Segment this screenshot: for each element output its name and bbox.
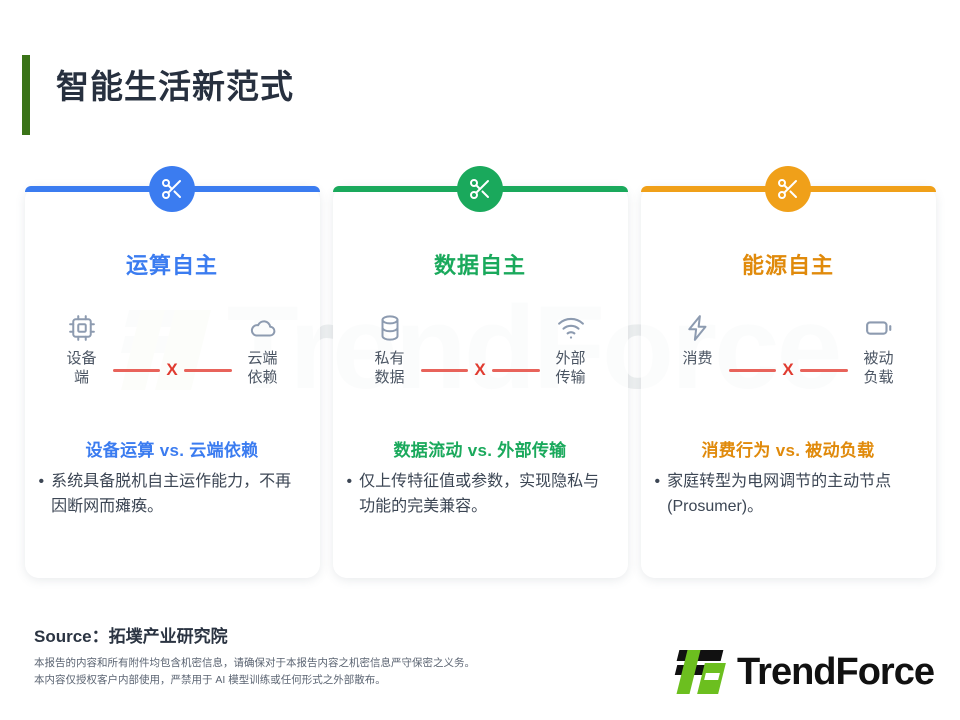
break-diagram: 消费 X 被动 负载: [641, 304, 936, 416]
battery-icon: [838, 304, 920, 344]
break-marker: X: [166, 360, 177, 380]
node-right: 外部 传输: [530, 304, 612, 388]
scissors-icon: [149, 166, 195, 212]
card-data-autonomy[interactable]: 数据自主 私有 数据 X: [333, 186, 628, 578]
card-compute-autonomy[interactable]: 运算自主 设备 端 X: [25, 186, 320, 578]
wifi-icon: [530, 304, 612, 344]
node-right: 被动 负载: [838, 304, 920, 388]
database-icon: [349, 304, 431, 344]
node-left: 私有 数据: [349, 304, 431, 388]
scissors-icon: [765, 166, 811, 212]
source-block: Source：拓墣产业研究院 本报告的内容和所有附件均包含机密信息，请确保对于本…: [34, 622, 475, 690]
disclaimer-line-1: 本报告的内容和所有附件均包含机密信息，请确保对于本报告内容之机密信息严守保密之义…: [34, 655, 475, 672]
node-left: 消费: [657, 304, 739, 369]
card-foot-title: 消费行为 vs. 被动负载: [655, 436, 922, 461]
node-right-label: 被动 负载: [838, 350, 920, 388]
node-right-label: 外部 传输: [530, 350, 612, 388]
node-right: 云端 依赖: [222, 304, 304, 388]
cloud-icon: [222, 304, 304, 344]
card-title: 运算自主: [25, 248, 320, 280]
node-left-label: 设备 端: [41, 350, 123, 388]
card-footer: 数据流动 vs. 外部传输 • 仅上传特征值或参数，实现隐私与功能的完美兼容。: [347, 436, 614, 520]
card-footer: 设备运算 vs. 云端依赖 • 系统具备脱机自主运作能力，不再因断网而瘫痪。: [39, 436, 306, 520]
bullet-text: 仅上传特征值或参数，实现隐私与功能的完美兼容。: [359, 470, 613, 520]
card-row: 运算自主 设备 端 X: [0, 186, 960, 586]
broken-link: X: [421, 360, 540, 380]
page-header: 智能生活新范式: [0, 0, 960, 160]
broken-link: X: [113, 360, 232, 380]
bullet-text: 家庭转型为电网调节的主动节点(Prosumer)。: [667, 470, 921, 520]
disclaimer-line-2: 本内容仅授权客户内部使用，严禁用于 AI 模型训练或任何形式之外部散布。: [34, 672, 475, 689]
scissors-icon: [457, 166, 503, 212]
card-bullet: • 家庭转型为电网调节的主动节点(Prosumer)。: [655, 470, 922, 520]
source-text: Source：拓墣产业研究院: [34, 622, 475, 647]
broken-link: X: [729, 360, 848, 380]
bullet-dot: •: [39, 470, 45, 495]
break-marker: X: [782, 360, 793, 380]
card-bullet: • 系统具备脱机自主运作能力，不再因断网而瘫痪。: [39, 470, 306, 520]
trendforce-logo: TrendForce: [676, 648, 934, 696]
card-title: 数据自主: [333, 248, 628, 280]
bullet-text: 系统具备脱机自主运作能力，不再因断网而瘫痪。: [51, 470, 305, 520]
card-foot-title: 设备运算 vs. 云端依赖: [39, 436, 306, 461]
bullet-dot: •: [655, 470, 661, 495]
trendforce-logo-mark: [676, 648, 728, 696]
bullet-dot: •: [347, 470, 353, 495]
node-left-label: 消费: [657, 350, 739, 369]
chip-icon: [41, 304, 123, 344]
card-foot-title: 数据流动 vs. 外部传输: [347, 436, 614, 461]
bolt-icon: [657, 304, 739, 344]
trendforce-logo-text: TrendForce: [737, 653, 934, 691]
card-bullet: • 仅上传特征值或参数，实现隐私与功能的完美兼容。: [347, 470, 614, 520]
node-left-label: 私有 数据: [349, 350, 431, 388]
node-left: 设备 端: [41, 304, 123, 388]
page-title: 智能生活新范式: [56, 60, 294, 108]
break-diagram: 设备 端 X 云端 依赖: [25, 304, 320, 416]
break-marker: X: [474, 360, 485, 380]
card-energy-autonomy[interactable]: 能源自主 消费 X: [641, 186, 936, 578]
card-footer: 消费行为 vs. 被动负载 • 家庭转型为电网调节的主动节点(Prosumer)…: [655, 436, 922, 520]
card-title: 能源自主: [641, 248, 936, 280]
break-diagram: 私有 数据 X 外部 传输: [333, 304, 628, 416]
node-right-label: 云端 依赖: [222, 350, 304, 388]
title-accent-bar: [22, 55, 30, 135]
